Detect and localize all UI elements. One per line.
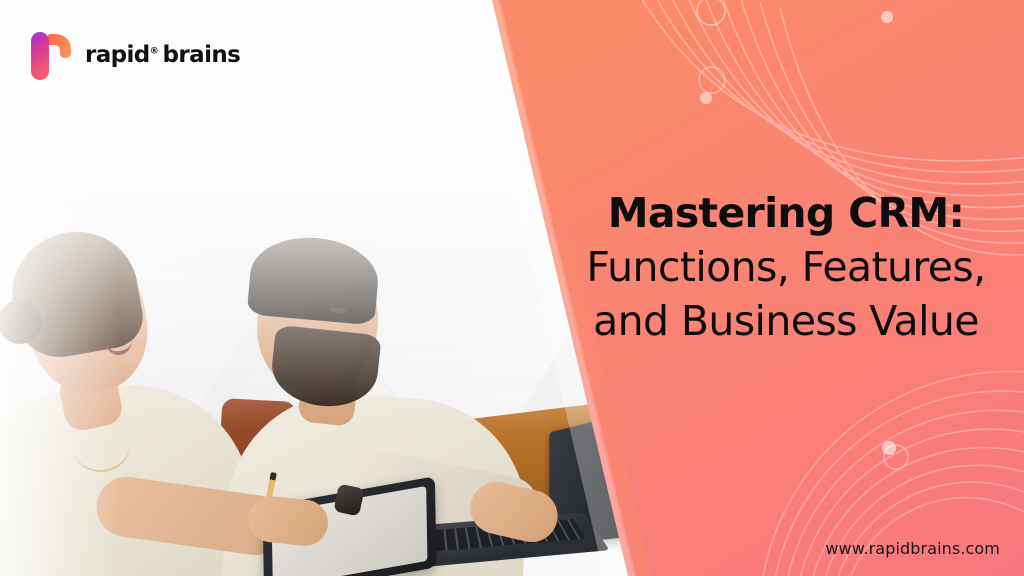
website-url[interactable]: www.rapidbrains.com <box>825 539 1000 558</box>
headline-block: Mastering CRM: Functions, Features, and … <box>560 186 1012 348</box>
rapidbrains-r-mark-icon <box>24 28 72 84</box>
brand-wordmark-line1: rapid® <box>85 45 158 66</box>
brand-wordmark: rapid® brains <box>85 45 240 66</box>
headline-line-2: Functions, Features, <box>560 240 1012 294</box>
marketing-banner: rapid® brains Mastering CRM: Functions, … <box>0 0 1024 576</box>
woman-hair-bun <box>0 300 42 344</box>
brand-logo[interactable]: rapid® brains <box>24 28 240 84</box>
headline-line-3: and Business Value <box>560 294 1012 348</box>
brand-wordmark-line2: brains <box>163 45 241 66</box>
registered-trademark-icon: ® <box>150 47 158 57</box>
man-hair <box>247 233 382 326</box>
headline-line-1: Mastering CRM: <box>560 186 1012 240</box>
